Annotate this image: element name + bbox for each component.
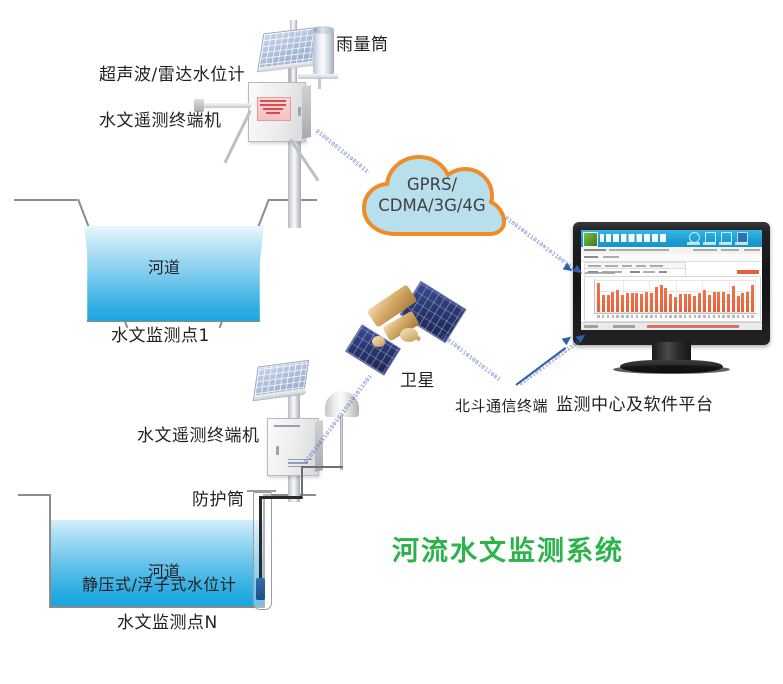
chart-bar <box>751 285 754 312</box>
chart-x-tick <box>665 315 667 318</box>
chart-x-tick <box>650 315 652 318</box>
antenna-cable-drop <box>301 466 303 496</box>
toolbar-icon-2-label <box>703 242 716 245</box>
chart-bar <box>674 297 677 312</box>
toolbar-icon-3-label <box>719 242 732 245</box>
rain-gauge-funnel <box>313 26 334 34</box>
data-link-binary: 0100100110100101100101011001 <box>518 341 580 388</box>
software-status-bar <box>581 322 762 330</box>
chart-x-tick <box>597 315 599 318</box>
rtu-warning-label-upper <box>257 97 291 121</box>
chart-y-axis <box>594 279 595 313</box>
chart-x-tick <box>636 315 638 318</box>
chart-x-tick <box>713 315 715 318</box>
chart-x-axis <box>594 313 757 314</box>
chart-bar <box>626 293 629 312</box>
chart-x-tick <box>708 315 710 318</box>
tube-cap <box>247 490 276 492</box>
chart-bar <box>611 292 614 312</box>
chart-bar <box>684 294 687 312</box>
chart-bar <box>732 286 735 312</box>
chart-x-tick <box>722 315 724 318</box>
chart-x-tick <box>674 315 676 318</box>
chart-bar <box>717 292 720 312</box>
software-logo-icon <box>583 232 598 247</box>
chart-bar <box>679 294 682 312</box>
chart-bar <box>722 292 725 312</box>
software-tab-row[interactable] <box>581 254 762 262</box>
satellite-dish-small <box>372 336 385 347</box>
chart-caption <box>585 272 615 274</box>
chart-bar <box>703 290 706 312</box>
beidou-antenna-pole <box>340 415 343 470</box>
chart-x-tick <box>727 315 729 318</box>
network-cloud: GPRS/ CDMA/3G/4G <box>352 148 512 248</box>
chart-x-tick <box>694 315 696 318</box>
chart-x-tick <box>660 315 662 318</box>
monitor-base-shadow <box>613 365 730 374</box>
water-level-meter-label-upper: 超声波/雷达水位计 <box>99 66 245 86</box>
chart-bar <box>621 295 624 312</box>
chart-bar <box>737 296 740 312</box>
chart-x-tick <box>679 315 681 318</box>
rtu-latch-upper <box>298 107 301 116</box>
chart-x-tick <box>641 315 643 318</box>
chart-x-tick <box>742 315 744 318</box>
chart-x-tick <box>689 315 691 318</box>
cloud-shape-icon <box>352 148 512 248</box>
chart-bar <box>597 283 600 312</box>
rtu-label-upper: 水文遥测终端机 <box>99 112 222 132</box>
chart-legend-swatch <box>737 270 759 274</box>
chart-bar <box>693 296 696 312</box>
rtu-latch-lower <box>276 446 279 455</box>
monitoring-center-label: 监测中心及软件平台 <box>556 396 714 416</box>
beidou-label: 北斗通信终端 <box>455 398 548 415</box>
rtu-brand-lower <box>274 425 302 429</box>
ground-line-lower-left <box>18 494 51 496</box>
software-title-text <box>600 234 666 242</box>
sensor-cable-top <box>259 496 303 499</box>
chart-x-tick <box>612 315 614 318</box>
water-level-meter-label-lower: 静压式/浮子式水位计 <box>82 576 236 594</box>
chart-bar <box>602 295 605 312</box>
chart-x-tick <box>645 315 647 318</box>
rtu-label-lower: 水文遥测终端机 <box>137 427 260 447</box>
chart-bar <box>688 294 691 312</box>
chart-x-tick <box>602 315 604 318</box>
chart-x-tick <box>737 315 739 318</box>
toolbar-icon-1-label <box>687 242 700 245</box>
chart-bar <box>727 294 730 312</box>
chart-bar <box>746 292 749 312</box>
chart-x-tick <box>626 315 628 318</box>
antenna-cable <box>303 466 343 468</box>
chart-bar <box>640 294 643 312</box>
river-bed-lower <box>49 606 265 608</box>
chart-bar <box>741 293 744 312</box>
chart-bar <box>645 292 648 312</box>
chart-bar <box>698 293 701 312</box>
pressure-water-level-sensor <box>256 578 265 600</box>
ground-line-left <box>14 199 77 201</box>
chart-bar <box>650 293 653 312</box>
chart-x-tick <box>718 315 720 318</box>
chart-bar <box>631 293 634 312</box>
chart-x-tick <box>621 315 623 318</box>
toolbar-icon-4-label <box>735 242 748 245</box>
chart-bar <box>669 294 672 312</box>
rain-gauge-stem <box>318 77 321 89</box>
beidou-to-center-arrow <box>515 347 566 386</box>
rain-gauge-label: 雨量筒 <box>336 36 389 56</box>
rainfall-bar-chart <box>584 276 761 322</box>
rtu-box-upper <box>248 82 306 142</box>
rtu-box-side-upper <box>302 85 311 139</box>
chart-bar <box>708 295 711 312</box>
chart-x-tick <box>684 315 686 318</box>
chart-x-tick <box>698 315 700 318</box>
chart-x-tick <box>669 315 671 318</box>
monitoring-center-monitor <box>573 222 770 382</box>
river-label-upper: 河道 <box>148 254 180 278</box>
site-label-lower: 水文监测点N <box>117 614 218 634</box>
chart-x-tick <box>616 315 618 318</box>
satellite-dish <box>400 328 418 342</box>
satellite-icon <box>350 288 480 378</box>
protective-tube-label: 防护筒 <box>192 491 245 511</box>
chart-bar <box>607 295 610 312</box>
chart-bar <box>660 285 663 312</box>
diagram-title: 河流水文监测系统 <box>392 529 624 568</box>
sensor-cable <box>259 496 262 582</box>
chart-bar <box>664 288 667 312</box>
chart-x-tick <box>703 315 705 318</box>
rain-gauge-body <box>313 30 334 74</box>
chart-bar <box>713 292 716 312</box>
chart-x-tick <box>655 315 657 318</box>
ultrasonic-arm <box>199 103 251 108</box>
chart-x-tick <box>732 315 734 318</box>
chart-bar <box>655 287 658 312</box>
monitor-screen <box>581 230 762 330</box>
chart-x-tick <box>751 315 753 318</box>
site-label-upper: 水文监测点1 <box>111 327 210 347</box>
chart-gridline-v <box>755 280 756 312</box>
satellite-label: 卫星 <box>400 372 435 392</box>
chart-bar <box>635 293 638 312</box>
software-header-bar <box>581 230 762 247</box>
chart-x-tick <box>747 315 749 318</box>
chart-gridline-h <box>596 280 755 281</box>
chart-bar <box>616 290 619 312</box>
chart-x-tick <box>607 315 609 318</box>
diagram-canvas: 河道 水文监测点1 河道 静压式/浮子式水位计 水文监测点N <box>0 0 783 684</box>
chart-x-tick <box>631 315 633 318</box>
